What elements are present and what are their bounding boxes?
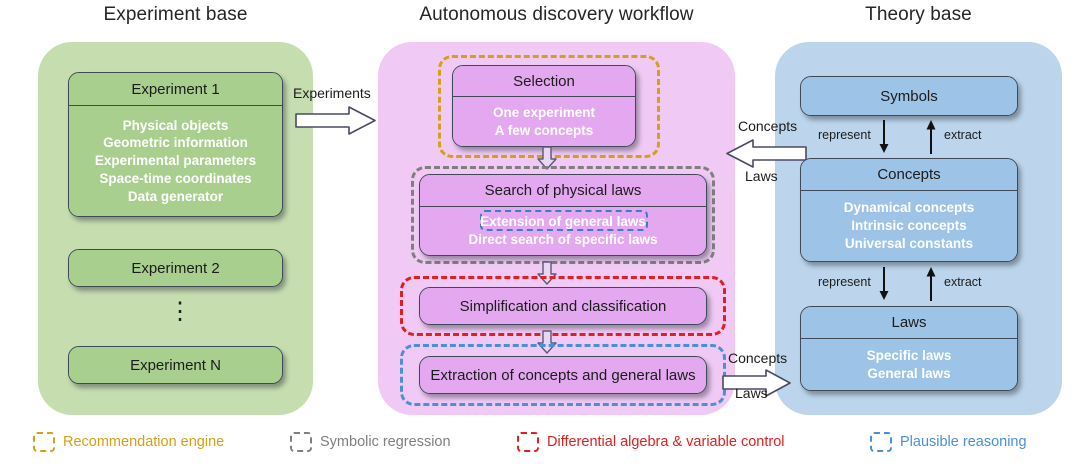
arrow-represent-concepts-to-laws [878, 267, 890, 301]
legend-swatch-gray-icon [290, 432, 312, 452]
list-item: Direct search of specific laws [468, 231, 657, 249]
column-title-theory-base: Theory base [775, 4, 1062, 26]
flow-label-in-laws: Laws [745, 168, 778, 184]
card-simplification-title: Simplification and classification [420, 288, 706, 324]
card-laws[interactable]: Laws Specific laws General laws [800, 306, 1018, 391]
arrow-down-selection-to-search [537, 146, 557, 170]
list-item: General laws [867, 365, 950, 383]
legend-item-recommendation-engine: Recommendation engine [33, 432, 224, 452]
flow-label-in-concepts: Concepts [738, 118, 797, 134]
legend-label: Plausible reasoning [900, 434, 1027, 450]
arrow-extract-laws-to-concepts [925, 267, 937, 301]
card-experiment-2-title: Experiment 2 [69, 250, 282, 286]
legend-swatch-gold-icon [33, 432, 55, 452]
column-title-workflow: Autonomous discovery workflow [378, 4, 735, 26]
card-experiment-1-body: Physical objects Geometric information E… [69, 106, 282, 216]
card-symbols-title: Symbols [801, 77, 1017, 115]
list-item: One experiment [493, 104, 595, 122]
column-title-experiment-base: Experiment base [38, 4, 313, 26]
legend-item-differential-algebra: Differential algebra & variable control [517, 432, 785, 452]
flow-label-out-concepts: Concepts [728, 350, 787, 366]
label-extract-bottom: extract [944, 275, 982, 289]
card-extraction-of-concepts-and-general-laws[interactable]: Extraction of concepts and general laws [419, 356, 707, 394]
list-item: Dynamical concepts [844, 199, 975, 217]
experiments-ellipsis: ⋮ [168, 300, 192, 324]
card-search-of-physical-laws[interactable]: Search of physical laws Extension of gen… [419, 174, 707, 256]
flow-label-experiments: Experiments [293, 85, 371, 101]
legend-swatch-blue-icon [870, 432, 892, 452]
arrow-extract-concepts-to-symbols [925, 120, 937, 154]
card-concepts-title: Concepts [801, 159, 1017, 190]
card-concepts[interactable]: Concepts Dynamical concepts Intrinsic co… [800, 158, 1018, 262]
arrow-represent-symbols-to-concepts [878, 120, 890, 154]
list-item: Physical objects [123, 117, 229, 135]
legend-label: Differential algebra & variable control [547, 434, 785, 450]
card-experiment-1[interactable]: Experiment 1 Physical objects Geometric … [68, 72, 283, 217]
label-extract-top: extract [944, 128, 982, 142]
card-laws-body: Specific laws General laws [801, 339, 1017, 390]
legend-item-symbolic-regression: Symbolic regression [290, 432, 451, 452]
list-item: Data generator [128, 188, 223, 206]
card-experiment-1-title: Experiment 1 [69, 73, 282, 105]
arrow-down-search-to-simplification [537, 261, 557, 285]
card-selection[interactable]: Selection One experiment A few concepts [452, 65, 636, 147]
card-search-title: Search of physical laws [420, 175, 706, 206]
card-experiment-n[interactable]: Experiment N [68, 346, 283, 384]
arrow-concepts-laws-left [725, 139, 807, 169]
arrow-experiments-right [295, 105, 377, 137]
card-simplification-and-classification[interactable]: Simplification and classification [419, 287, 707, 325]
card-experiment-2[interactable]: Experiment 2 [68, 249, 283, 287]
list-item: Universal constants [845, 235, 973, 253]
legend-swatch-red-icon [517, 432, 539, 452]
list-item: Space-time coordinates [99, 170, 251, 188]
card-experiment-n-title: Experiment N [69, 347, 282, 383]
diagram-canvas: Experiment base Autonomous discovery wor… [0, 0, 1080, 470]
legend-label: Symbolic regression [320, 434, 451, 450]
list-item: Intrinsic concepts [851, 217, 967, 235]
flow-label-out-laws: Laws [735, 385, 768, 401]
card-selection-title: Selection [453, 66, 635, 96]
card-concepts-body: Dynamical concepts Intrinsic concepts Un… [801, 191, 1017, 261]
legend-item-plausible-reasoning: Plausible reasoning [870, 432, 1027, 452]
card-laws-title: Laws [801, 307, 1017, 338]
list-item: Experimental parameters [95, 152, 256, 170]
arrow-down-simplification-to-extraction [537, 330, 557, 354]
card-extraction-title: Extraction of concepts and general laws [420, 357, 706, 393]
card-selection-body: One experiment A few concepts [453, 97, 635, 146]
list-item: Geometric information [103, 134, 248, 152]
list-item: Specific laws [867, 347, 952, 365]
card-symbols[interactable]: Symbols [800, 76, 1018, 116]
list-item: A few concepts [495, 122, 594, 140]
label-represent-bottom: represent [818, 275, 871, 289]
card-search-body: Extension of general laws Direct search … [420, 207, 706, 255]
legend-label: Recommendation engine [63, 434, 224, 450]
label-represent-top: represent [818, 128, 871, 142]
search-highlighted-item: Extension of general laws [474, 213, 652, 231]
